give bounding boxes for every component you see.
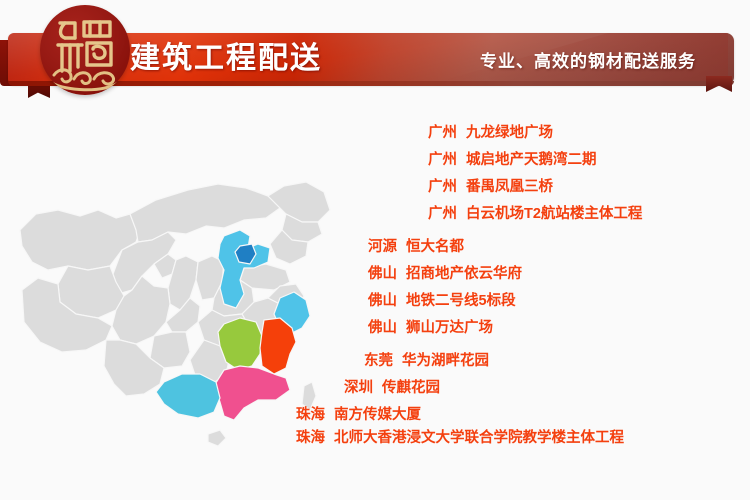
project-name: 番禺凤凰三桥 (466, 179, 553, 195)
project-city: 广州 (428, 125, 457, 141)
project-name: 白云机场T2航站楼主体工程 (466, 206, 642, 222)
project-group-foshan: 河源恒大名都 佛山招商地产依云华府 佛山地铁二号线5标段 佛山狮山万达广场 (368, 234, 522, 342)
page-root: 建筑工程配送 专业、高效的钢材配送服务 (0, 0, 750, 500)
project-line-shenzhen: 深圳传麒花园 (344, 375, 440, 402)
header-banner: 建筑工程配送 专业、高效的钢材配送服务 (0, 0, 750, 100)
project-city: 珠海 (296, 430, 325, 446)
list-item: 广州番禺凤凰三桥 (428, 174, 642, 201)
project-name: 传麒花园 (382, 380, 440, 396)
project-name: 狮山万达广场 (406, 320, 493, 336)
project-name: 招商地产依云华府 (406, 266, 522, 282)
ribbon-fold-right (706, 76, 732, 92)
list-item: 东莞华为湖畔花园 (364, 348, 489, 375)
list-item: 珠海北师大香港浸文大学联合学院教学楼主体工程 (296, 425, 624, 452)
project-city: 佛山 (368, 266, 397, 282)
map-province-guangxi (156, 374, 220, 418)
project-group-guangzhou: 广州九龙绿地广场 广州城启地产天鹅湾二期 广州番禺凤凰三桥 广州白云机场T2航站… (428, 120, 642, 228)
project-city: 东莞 (364, 353, 393, 369)
project-city: 佛山 (368, 320, 397, 336)
project-city: 深圳 (344, 380, 373, 396)
project-name: 地铁二号线5标段 (406, 293, 516, 309)
list-item: 佛山地铁二号线5标段 (368, 288, 522, 315)
list-item: 深圳传麒花园 (344, 375, 440, 402)
list-item: 广州白云机场T2航站楼主体工程 (428, 201, 642, 228)
list-item: 河源恒大名都 (368, 234, 522, 261)
fu-character-icon (40, 5, 130, 95)
project-line-zhuhai-2: 珠海北师大香港浸文大学联合学院教学楼主体工程 (296, 425, 624, 452)
map-province-guangdong (214, 366, 290, 420)
project-city: 河源 (368, 239, 397, 255)
fu-seal-badge (40, 5, 130, 95)
project-name: 北师大香港浸文大学联合学院教学楼主体工程 (334, 430, 624, 446)
list-item: 佛山狮山万达广场 (368, 315, 522, 342)
project-city: 佛山 (368, 293, 397, 309)
project-city: 广州 (428, 152, 457, 168)
list-item: 广州九龙绿地广场 (428, 120, 642, 147)
banner-subtitle: 专业、高效的钢材配送服务 (480, 50, 696, 74)
project-name: 九龙绿地广场 (466, 125, 553, 141)
project-name: 南方传媒大厦 (334, 407, 421, 423)
list-item: 佛山招商地产依云华府 (368, 261, 522, 288)
project-name: 华为湖畔花园 (402, 353, 489, 369)
project-city: 广州 (428, 206, 457, 222)
project-name: 城启地产天鹅湾二期 (466, 152, 597, 168)
page-title: 建筑工程配送 (130, 38, 322, 80)
list-item: 广州城启地产天鹅湾二期 (428, 147, 642, 174)
project-city: 广州 (428, 179, 457, 195)
map-province-fujian (260, 318, 296, 374)
project-line-dongguan: 东莞华为湖畔花园 (364, 348, 489, 375)
project-name: 恒大名都 (406, 239, 464, 255)
project-city: 珠海 (296, 407, 325, 423)
